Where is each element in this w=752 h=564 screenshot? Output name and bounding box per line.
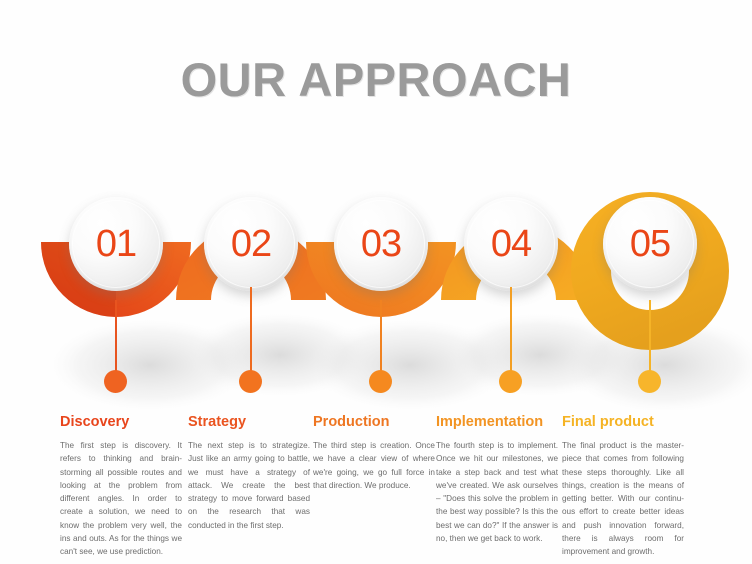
- step-column-01: Discovery The first step is discovery. I…: [60, 414, 182, 559]
- step-number-02: 02: [231, 225, 271, 263]
- pin-dot-01: [104, 370, 127, 393]
- step-heading-05: Final product: [562, 414, 684, 430]
- step-circle-04[interactable]: 04: [464, 197, 558, 291]
- infographic-page: OUR APPROACH: [0, 0, 752, 564]
- pin-line-03: [380, 300, 382, 378]
- step-circle-02[interactable]: 02: [204, 197, 298, 291]
- pin-dot-02: [239, 370, 262, 393]
- step-circle-01[interactable]: 01: [69, 197, 163, 291]
- step-body-05: The final product is the master-piece th…: [562, 439, 684, 559]
- step-column-02: Strategy The next step is to strategize.…: [188, 414, 310, 532]
- step-body-02: The next step is to strategize. Just lik…: [188, 439, 310, 532]
- step-circle-05[interactable]: 05: [603, 197, 697, 291]
- pin-line-02: [250, 287, 252, 378]
- pin-dot-04: [499, 370, 522, 393]
- step-heading-03: Production: [313, 414, 435, 430]
- step-body-01: The first step is discovery. It refers t…: [60, 439, 182, 559]
- page-title: OUR APPROACH: [0, 52, 752, 107]
- pin-line-01: [115, 300, 117, 378]
- step-column-05: Final product The final product is the m…: [562, 414, 684, 559]
- step-heading-01: Discovery: [60, 414, 182, 430]
- step-heading-04: Implementation: [436, 414, 558, 430]
- step-number-05: 05: [630, 225, 670, 263]
- step-number-01: 01: [96, 225, 136, 263]
- pin-line-04: [510, 287, 512, 378]
- step-body-03: The third step is creation. Once we have…: [313, 439, 435, 492]
- pin-dot-03: [369, 370, 392, 393]
- step-column-04: Implementation The fourth step is to imp…: [436, 414, 558, 545]
- pin-line-05: [649, 300, 651, 378]
- step-number-03: 03: [361, 225, 401, 263]
- step-circle-03[interactable]: 03: [334, 197, 428, 291]
- step-body-04: The fourth step is to implement. Once we…: [436, 439, 558, 545]
- pin-dot-05: [638, 370, 661, 393]
- step-column-03: Production The third step is creation. O…: [313, 414, 435, 492]
- step-heading-02: Strategy: [188, 414, 310, 430]
- step-number-04: 04: [491, 225, 531, 263]
